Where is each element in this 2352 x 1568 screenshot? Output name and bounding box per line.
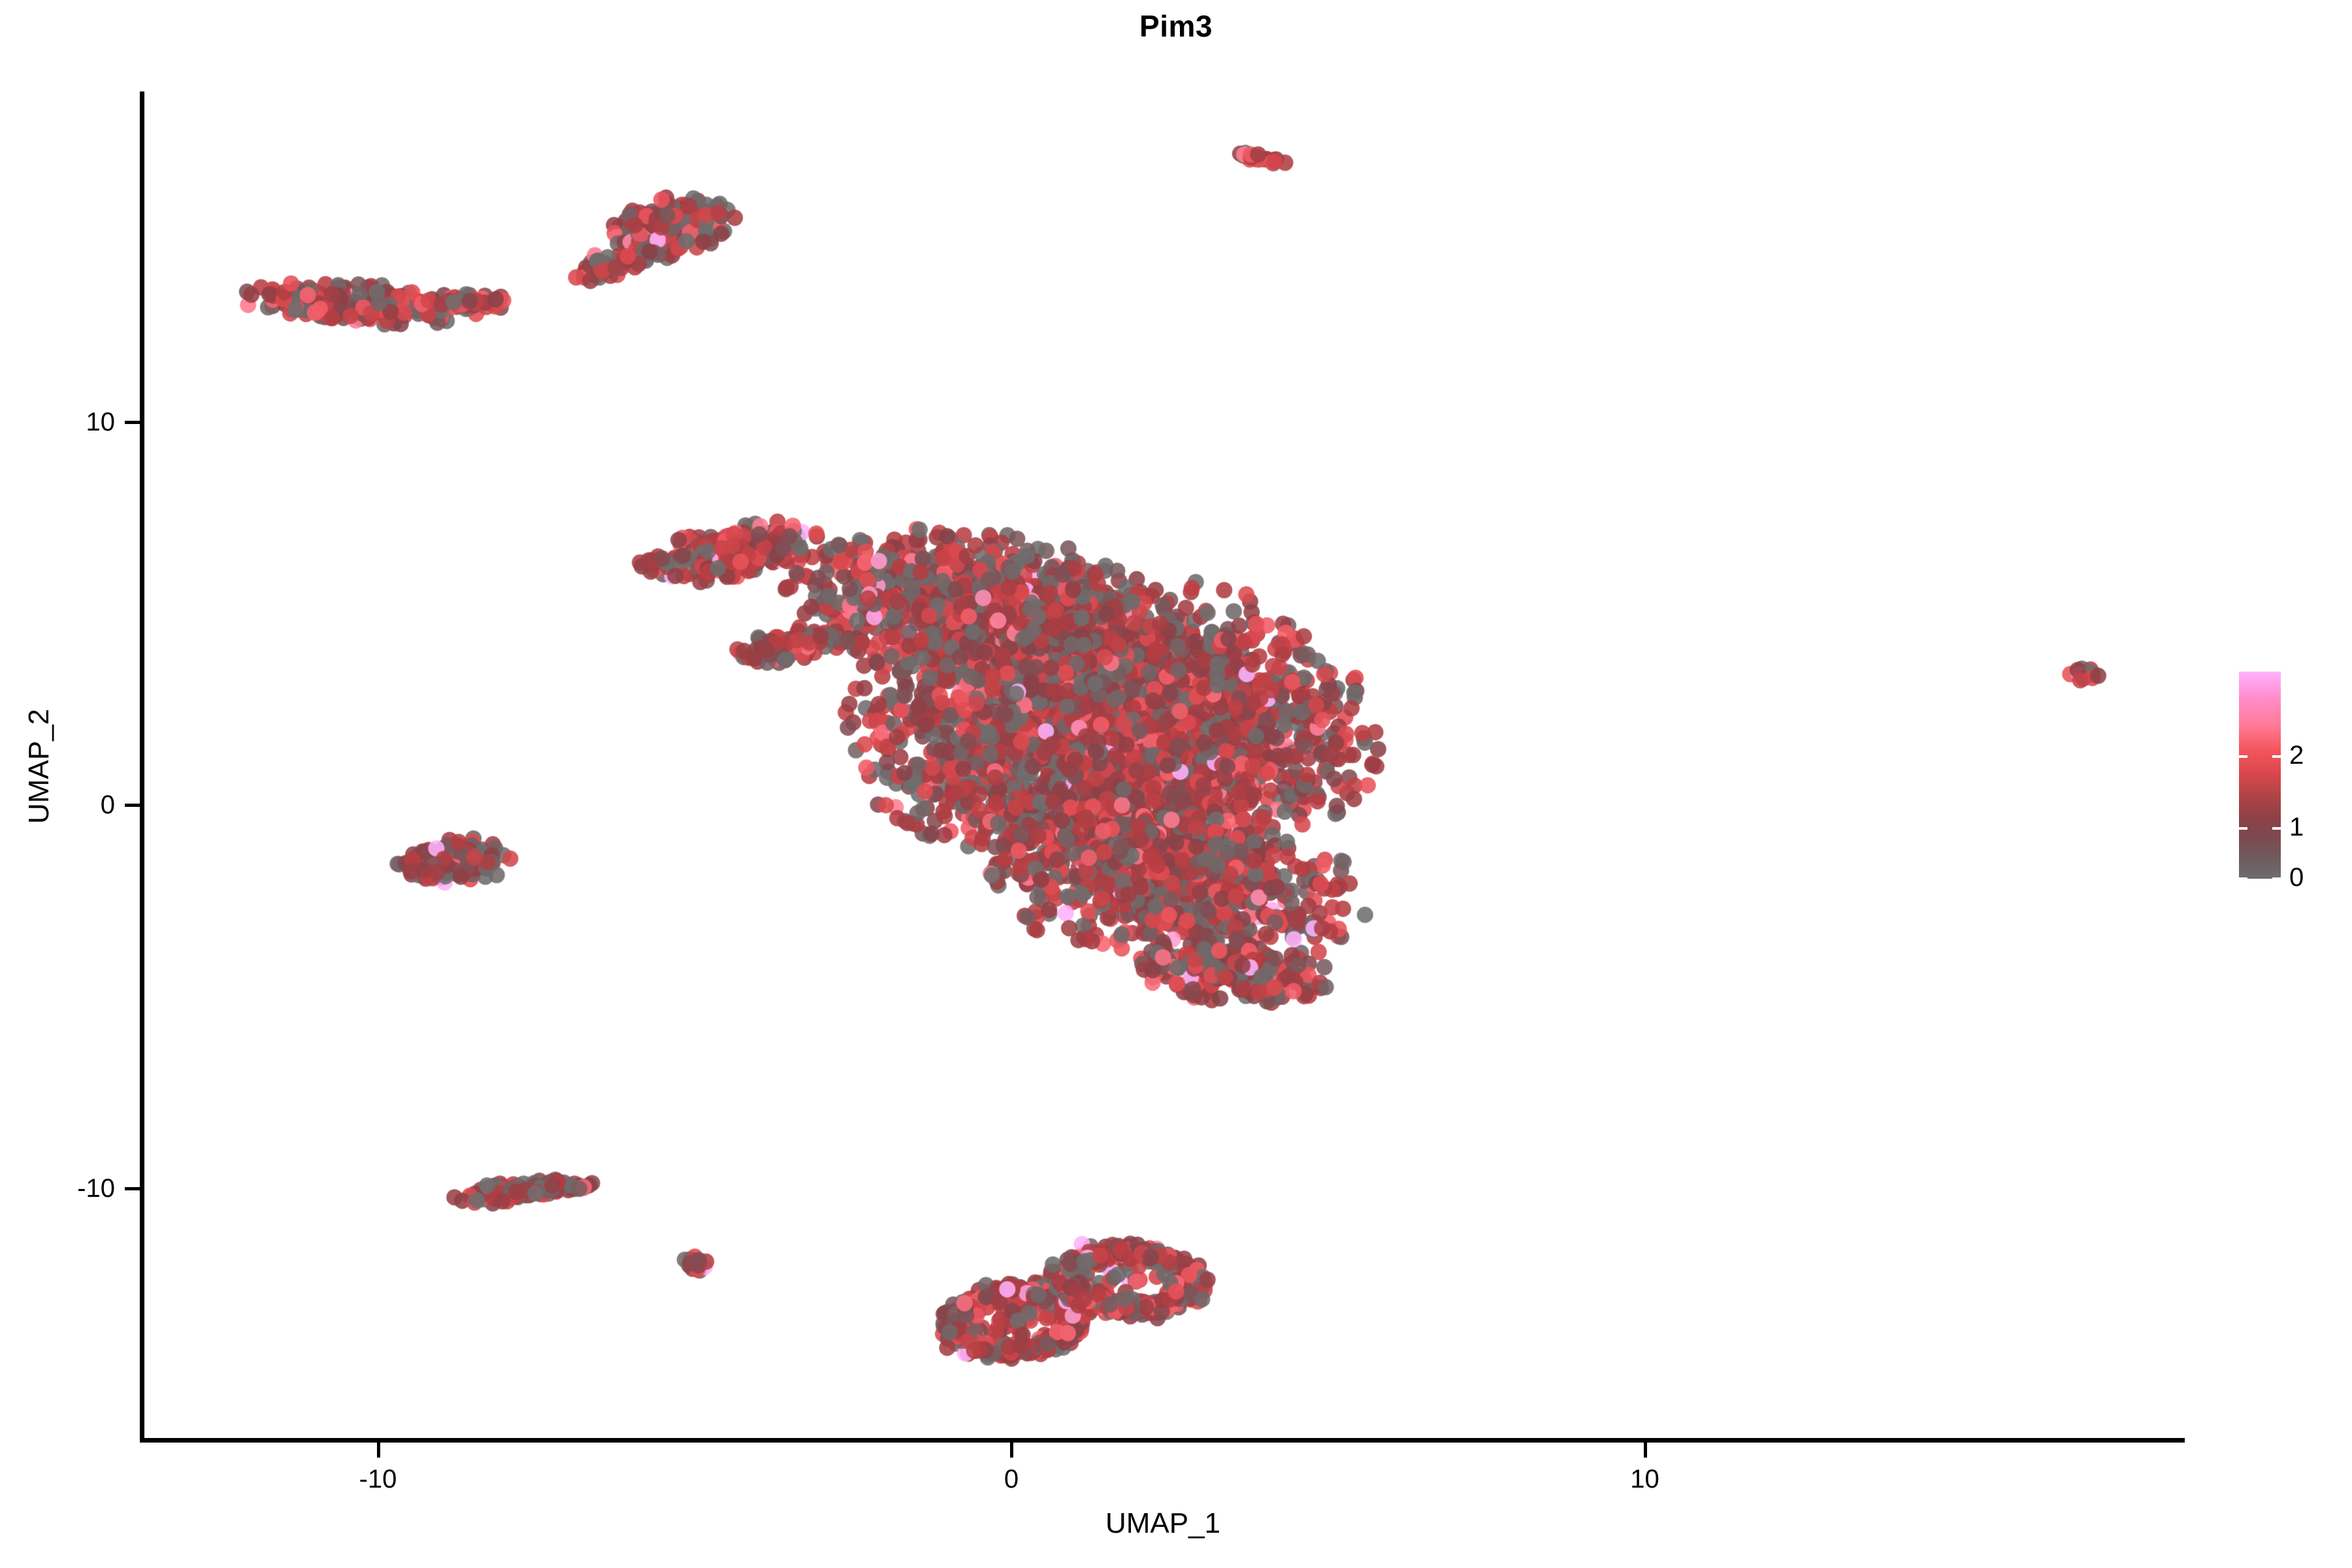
y-tick-label: 10: [0, 406, 115, 438]
umap-feature-plot: Pim3 -10010 -10010 UMAP_1 UMAP_2 2 1 0: [0, 0, 2352, 1568]
colorbar-legend: 2 1 0: [2221, 660, 2352, 895]
colorbar-label-2: 2: [2289, 740, 2304, 771]
y-tick-mark: [125, 804, 140, 807]
y-axis-line: [140, 91, 144, 1443]
x-tick-mark: [377, 1443, 380, 1458]
x-tick-mark: [1010, 1443, 1013, 1458]
scatter-points-canvas: [144, 91, 2182, 1441]
x-tick-label: -10: [300, 1463, 457, 1495]
x-tick-label: 0: [933, 1463, 1090, 1495]
colorbar-tick-1-left: [2239, 827, 2247, 830]
page-title: Pim3: [0, 7, 2352, 46]
x-tick-mark: [1644, 1443, 1647, 1458]
y-tick-label: 0: [0, 789, 115, 821]
colorbar-label-0: 0: [2289, 862, 2304, 893]
colorbar-tick-0-left: [2239, 877, 2247, 880]
colorbar-label-1: 1: [2289, 811, 2304, 843]
x-tick-label: 10: [1567, 1463, 1723, 1495]
colorbar-tick-2-right: [2272, 755, 2281, 758]
y-tick-mark: [125, 1187, 140, 1190]
x-axis-line: [140, 1438, 2185, 1443]
y-tick-mark: [125, 421, 140, 424]
y-tick-label: -10: [0, 1173, 115, 1204]
y-axis-label: UMAP_2: [22, 505, 57, 1028]
x-axis-label: UMAP_1: [144, 1506, 2182, 1541]
colorbar-tick-1-right: [2272, 827, 2281, 830]
colorbar-gradient: [2239, 672, 2281, 879]
colorbar-tick-0-right: [2272, 877, 2281, 880]
scatter-layer: [144, 91, 2182, 1441]
colorbar-tick-2-left: [2239, 755, 2247, 758]
